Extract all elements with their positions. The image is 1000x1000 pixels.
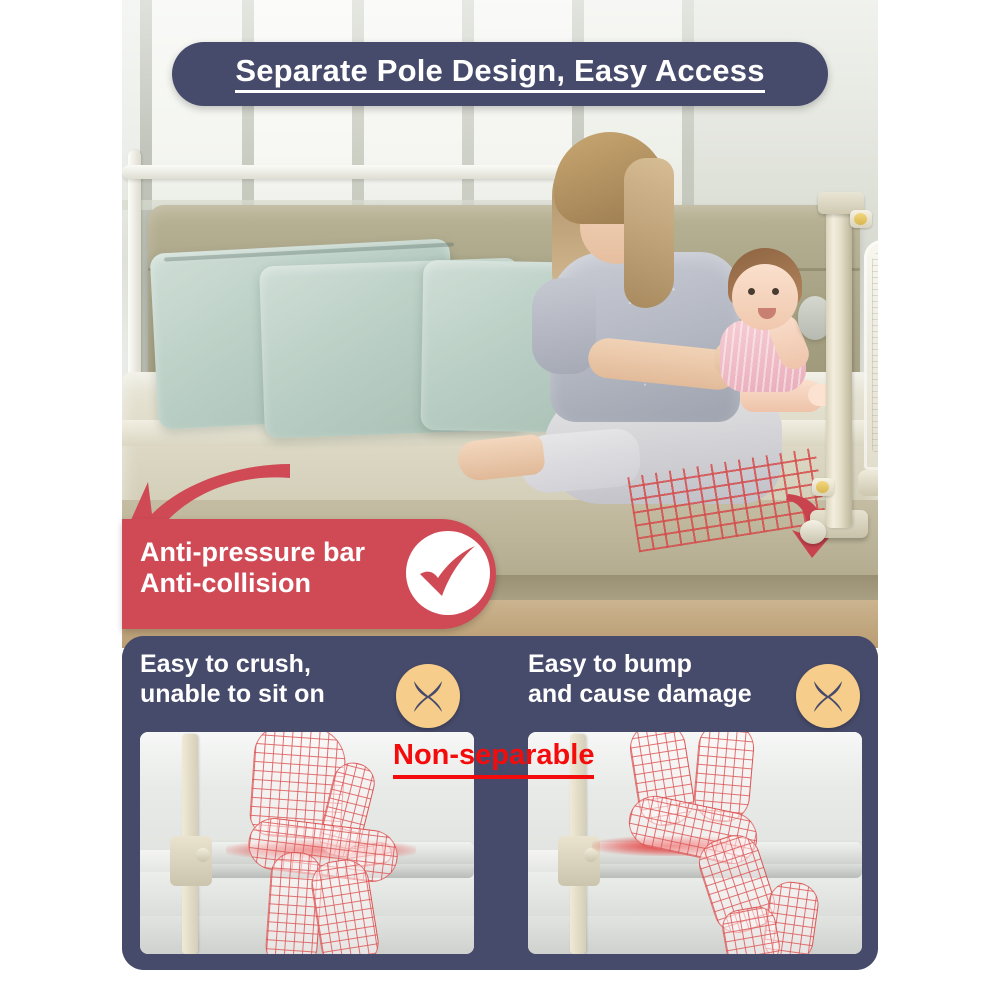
woman-hair-side [624, 158, 674, 308]
comparison-panel-bump: Easy to bump and cause damage [510, 636, 878, 970]
x-badge [796, 664, 860, 728]
x-icon [808, 676, 848, 716]
clamp-bolt [196, 848, 210, 862]
photo-rail-pole-lower [570, 882, 586, 954]
baby-eye [772, 288, 779, 295]
photo-rail-pole-upper [182, 734, 198, 844]
caption-line-2: unable to sit on [140, 680, 390, 710]
photo-rail-pole-lower [182, 882, 198, 954]
comparison-panel-crush: Easy to crush, unable to sit on [122, 636, 490, 970]
baby-eye [748, 288, 755, 295]
feature-line-2: Anti-collision [140, 568, 392, 599]
check-icon [417, 546, 479, 600]
page-title: Separate Pole Design, Easy Access [235, 55, 764, 93]
knob-dot [854, 213, 867, 225]
caption-line-2: and cause damage [528, 680, 778, 710]
separate-pole [814, 192, 874, 554]
panel-caption: Easy to crush, unable to sit on [140, 650, 390, 709]
feature-line-1: Anti-pressure bar [140, 537, 392, 568]
woman-sleeve [532, 278, 596, 374]
pole-lock-knob [850, 210, 872, 228]
caption-line-1: Easy to crush, [140, 650, 390, 680]
baby-face [732, 264, 798, 330]
panel-caption: Easy to bump and cause damage [528, 650, 778, 709]
x-icon [408, 676, 448, 716]
pole-roller [800, 520, 826, 544]
pole-lock-knob [812, 478, 834, 496]
photo-pole-clamp [170, 836, 212, 886]
secondary-rail-bar [122, 165, 562, 179]
caption-line-1: Easy to bump [528, 650, 778, 680]
feature-banner-text: Anti-pressure bar Anti-collision [140, 537, 392, 599]
check-badge [406, 531, 490, 615]
knob-dot [816, 481, 829, 493]
non-separable-label: Non-separable [393, 741, 594, 779]
page-title-banner: Separate Pole Design, Easy Access [172, 42, 828, 106]
product-feature-poster: Separate Pole Design, Easy Access Anti-p… [0, 0, 1000, 1000]
x-badge [396, 664, 460, 728]
